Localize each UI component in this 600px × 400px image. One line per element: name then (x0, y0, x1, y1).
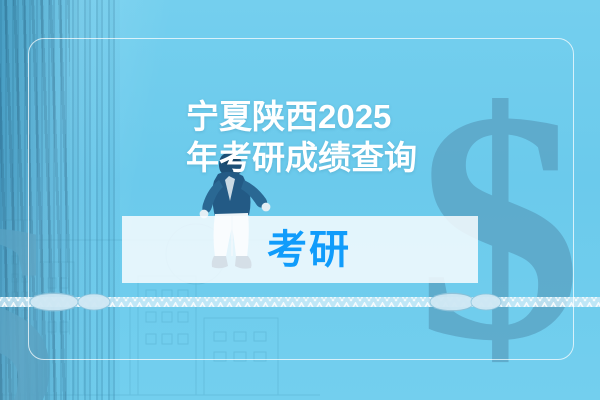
page-title: 宁夏陕西2025 年考研成绩查询 (186, 96, 436, 178)
keyword-highlight-bar: 考研 (122, 216, 478, 283)
banner-canvas: $ $ (0, 0, 600, 400)
dollar-sign-left-icon: $ (0, 176, 58, 400)
page-title-line-1: 宁夏陕西2025 (186, 96, 436, 137)
tightrope-icon (0, 292, 600, 314)
keyword-label: 考研 (267, 230, 351, 270)
page-title-line-2: 年考研成绩查询 (186, 137, 436, 178)
